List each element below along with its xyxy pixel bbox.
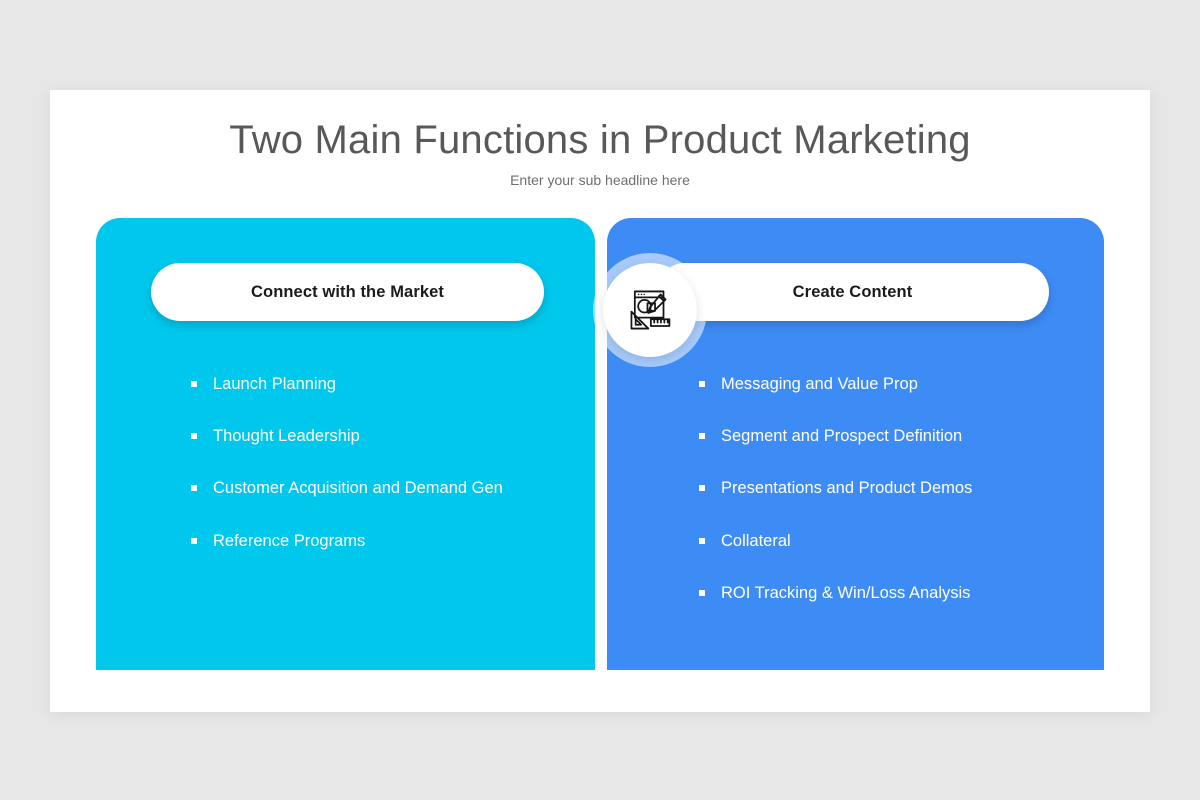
center-badge	[593, 253, 707, 367]
page-subtitle: Enter your sub headline here	[50, 172, 1150, 188]
list-item: Presentations and Product Demos	[699, 472, 1069, 504]
list-item: Customer Acquisition and Demand Gen	[191, 472, 551, 504]
panels-container: Connect with the Market Launch Planning …	[50, 218, 1150, 670]
list-item: Reference Programs	[191, 525, 551, 557]
panel-left-heading-label: Connect with the Market	[251, 283, 444, 302]
panel-right-bullet-list: Messaging and Value Prop Segment and Pro…	[699, 368, 1069, 629]
badge-circle	[603, 263, 697, 357]
slide-card: Two Main Functions in Product Marketing …	[50, 90, 1150, 712]
list-item: Thought Leadership	[191, 420, 551, 452]
panel-right-heading-button[interactable]: Create Content	[656, 263, 1049, 321]
list-item: Messaging and Value Prop	[699, 368, 1069, 400]
list-item: Collateral	[699, 525, 1069, 557]
page-title: Two Main Functions in Product Marketing	[50, 118, 1150, 163]
list-item: Launch Planning	[191, 368, 551, 400]
panel-connect-with-the-market: Connect with the Market Launch Planning …	[96, 218, 595, 670]
list-item: ROI Tracking & Win/Loss Analysis	[699, 577, 1069, 609]
panel-left-heading-button[interactable]: Connect with the Market	[151, 263, 544, 321]
design-tools-icon	[623, 283, 677, 337]
panel-left-bullet-list: Launch Planning Thought Leadership Custo…	[191, 368, 551, 577]
panel-right-heading-label: Create Content	[793, 283, 913, 302]
list-item: Segment and Prospect Definition	[699, 420, 1069, 452]
